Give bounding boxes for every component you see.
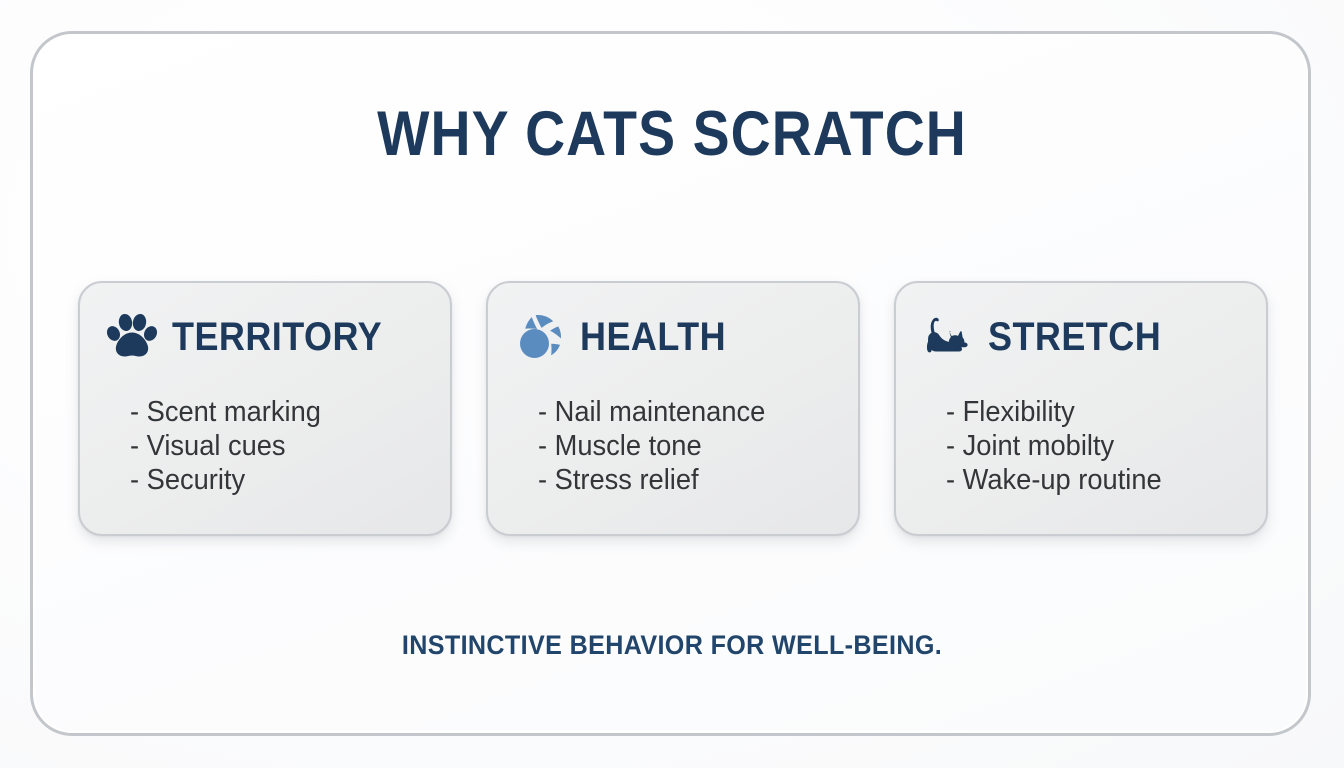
paw-print-icon xyxy=(106,311,158,363)
cards-row: TERRITORY - Scent marking - Visual cues … xyxy=(78,281,1268,536)
card-header: HEALTH xyxy=(514,311,832,363)
card-header: STRETCH xyxy=(922,311,1240,363)
card-territory[interactable]: TERRITORY - Scent marking - Visual cues … xyxy=(78,281,452,536)
infographic-canvas: WHY CATS SCRATCH TERRITORY xyxy=(0,0,1344,768)
card-header: TERRITORY xyxy=(106,311,424,363)
card-list: - Scent marking - Visual cues - Security xyxy=(130,395,424,497)
list-item: - Wake-up routine xyxy=(946,463,1222,497)
list-item: - Flexibility xyxy=(946,395,1222,429)
card-list: - Flexibility - Joint mobilty - Wake-up … xyxy=(946,395,1240,497)
list-item: - Nail maintenance xyxy=(538,395,814,429)
footer-tagline: INSTINCTIVE BEHAVIOR FOR WELL-BEING. xyxy=(47,632,1297,659)
list-item: - Muscle tone xyxy=(538,429,814,463)
list-item: - Scent marking xyxy=(130,395,406,429)
card-stretch[interactable]: STRETCH - Flexibility - Joint mobilty - … xyxy=(894,281,1268,536)
card-health[interactable]: HEALTH - Nail maintenance - Muscle tone … xyxy=(486,281,860,536)
card-list: - Nail maintenance - Muscle tone - Stres… xyxy=(538,395,832,497)
stretching-cat-icon xyxy=(922,311,974,363)
claw-paw-icon xyxy=(514,311,566,363)
card-title: TERRITORY xyxy=(172,317,382,357)
list-item: - Stress relief xyxy=(538,463,814,497)
card-title: STRETCH xyxy=(988,317,1161,357)
list-item: - Security xyxy=(130,463,406,497)
card-title: HEALTH xyxy=(580,317,726,357)
list-item: - Joint mobilty xyxy=(946,429,1222,463)
page-title: WHY CATS SCRATCH xyxy=(81,103,1264,166)
list-item: - Visual cues xyxy=(130,429,406,463)
